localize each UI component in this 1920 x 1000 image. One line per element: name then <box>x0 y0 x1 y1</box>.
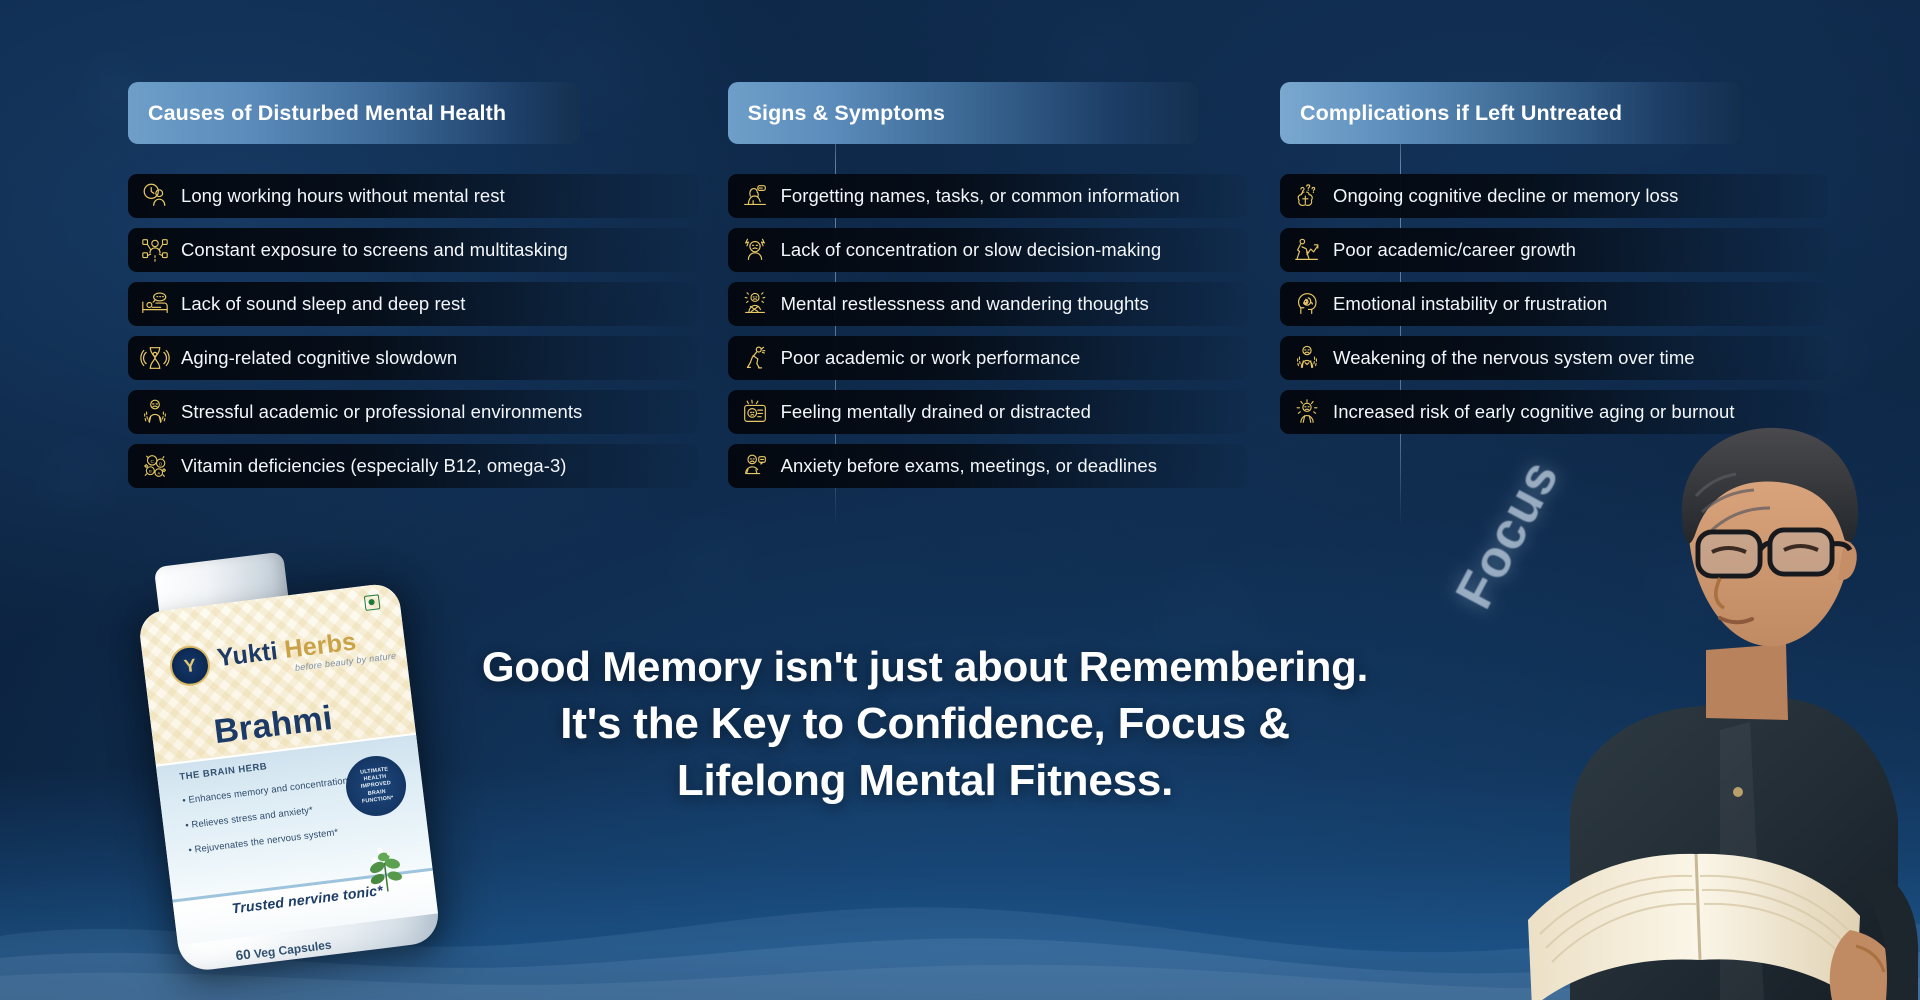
list-item[interactable]: Aging-related cognitive slowdown <box>128 336 698 380</box>
burnout-person-icon <box>1290 395 1324 429</box>
person-figure-icon <box>1420 400 1920 1000</box>
column-complications: Complications if Left Untreated Ong <box>1248 82 1828 434</box>
svg-text:A: A <box>157 470 160 475</box>
list-item[interactable]: Weakening of the nervous system over tim… <box>1280 336 1828 380</box>
clock-person-icon <box>138 179 172 213</box>
list-item-label: Lack of concentration or slow decision-m… <box>781 239 1162 261</box>
svg-text:B: B <box>149 469 152 474</box>
list-item[interactable]: Poor academic or work performance <box>728 336 1248 380</box>
list-item[interactable]: Feeling mentally drained or distracted <box>728 390 1248 434</box>
list-item[interactable]: Constant exposure to screens and multita… <box>128 228 698 272</box>
list-item-label: Ongoing cognitive decline or memory loss <box>1333 185 1678 207</box>
headline-line-1: Good Memory isn't just about Remembering… <box>360 640 1490 695</box>
head-spiral-icon <box>1290 287 1324 321</box>
column-causes: Causes of Disturbed Mental Health Long w… <box>128 82 698 488</box>
causes-list: Long working hours without mental rest C… <box>128 174 698 488</box>
stressed-person-icon <box>138 395 172 429</box>
list-item[interactable]: Mental restlessness and wandering though… <box>728 282 1248 326</box>
reader-person-photo: Focus <box>1420 400 1920 1000</box>
list-item-label: Vitamin deficiencies (especially B12, om… <box>181 455 567 477</box>
list-item[interactable]: Lack of sound sleep and deep rest <box>128 282 698 326</box>
column-header-signs: Signs & Symptoms <box>728 82 1198 144</box>
list-item-label: Anxiety before exams, meetings, or deadl… <box>781 455 1158 477</box>
poster-canvas: Causes of Disturbed Mental Health Long w… <box>0 0 1920 1000</box>
seal-text: ULTIMATE HEALTH IMPROVED BRAIN FUNCTION* <box>350 765 402 807</box>
list-item[interactable]: C D B A Vitamin deficiencies (especially… <box>128 444 698 488</box>
list-item[interactable]: Poor academic/career growth <box>1280 228 1828 272</box>
bottle-body: Y Yukti Herbs before beauty by nature Br… <box>137 582 441 973</box>
nervous-system-icon <box>1290 341 1324 375</box>
forgetting-person-icon <box>738 179 772 213</box>
list-item-label: Stressful academic or professional envir… <box>181 401 582 423</box>
list-item-label: Long working hours without mental rest <box>181 185 505 207</box>
restless-thoughts-icon <box>738 287 772 321</box>
signs-list: Forgetting names, tasks, or common infor… <box>728 174 1248 488</box>
list-item-label: Feeling mentally drained or distracted <box>781 401 1091 423</box>
list-item-label: Lack of sound sleep and deep rest <box>181 293 466 315</box>
list-item-label: Mental restlessness and wandering though… <box>781 293 1149 315</box>
list-item[interactable]: Ongoing cognitive decline or memory loss <box>1280 174 1828 218</box>
hourglass-icon <box>138 341 172 375</box>
list-item-label: Constant exposure to screens and multita… <box>181 239 568 261</box>
insomnia-bed-icon <box>138 287 172 321</box>
list-item-label: Forgetting names, tasks, or common infor… <box>781 185 1180 207</box>
brain-questions-icon <box>1290 179 1324 213</box>
headline-line-3: Lifelong Mental Fitness. <box>360 752 1490 809</box>
list-item-label: Emotional instability or frustration <box>1333 293 1607 315</box>
anxious-student-icon <box>738 449 772 483</box>
list-item-label: Weakening of the nervous system over tim… <box>1333 347 1695 369</box>
complications-list: Ongoing cognitive decline or memory loss <box>1280 174 1828 434</box>
herb-plant-icon <box>353 834 418 899</box>
list-item[interactable]: Forgetting names, tasks, or common infor… <box>728 174 1248 218</box>
list-item[interactable]: Emotional instability or frustration <box>1280 282 1828 326</box>
list-item-label: Poor academic/career growth <box>1333 239 1576 261</box>
svg-text:D: D <box>159 461 162 466</box>
headline-line-2: It's the Key to Confidence, Focus & <box>360 695 1490 752</box>
column-header-causes: Causes of Disturbed Mental Health <box>128 82 580 144</box>
list-item[interactable]: Lack of concentration or slow decision-m… <box>728 228 1248 272</box>
slouching-worker-icon <box>738 341 772 375</box>
vegetarian-mark-icon <box>364 594 381 611</box>
multitasking-person-icon <box>138 233 172 267</box>
hero-headline: Good Memory isn't just about Remembering… <box>360 640 1490 809</box>
product-bottle[interactable]: Y Yukti Herbs before beauty by nature Br… <box>118 531 467 984</box>
brand-logo-glyph: Y <box>183 656 197 675</box>
declining-graph-icon <box>1290 233 1324 267</box>
list-item[interactable]: Anxiety before exams, meetings, or deadl… <box>728 444 1248 488</box>
list-item-label: Poor academic or work performance <box>781 347 1081 369</box>
vitamin-molecules-icon: C D B A <box>138 449 172 483</box>
list-item[interactable]: Stressful academic or professional envir… <box>128 390 698 434</box>
column-header-complications: Complications if Left Untreated <box>1280 82 1740 144</box>
list-item-label: Aging-related cognitive slowdown <box>181 347 457 369</box>
drained-face-icon <box>738 395 772 429</box>
column-signs: Signs & Symptoms For <box>698 82 1248 488</box>
distracted-head-icon <box>738 233 772 267</box>
svg-text:C: C <box>151 459 155 464</box>
list-item[interactable]: Long working hours without mental rest <box>128 174 698 218</box>
